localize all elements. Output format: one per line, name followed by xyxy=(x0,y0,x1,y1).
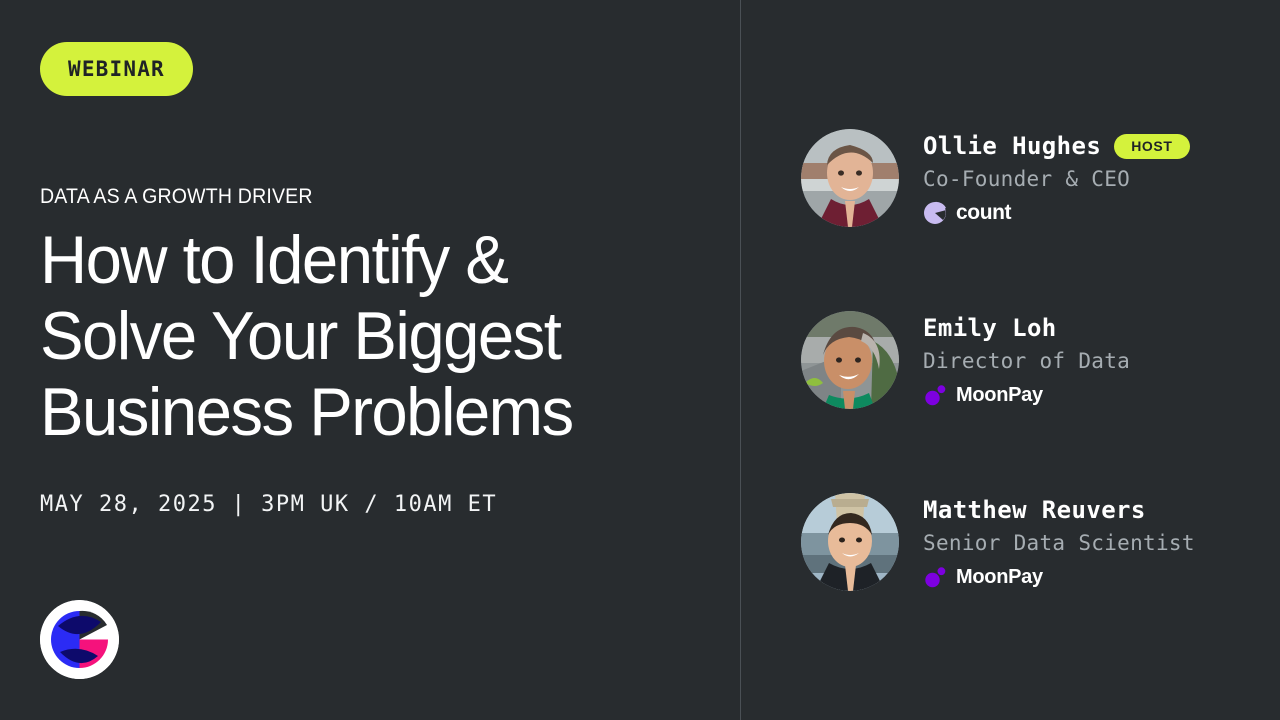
webinar-badge: WEBINAR xyxy=(40,42,193,96)
speaker-list: Ollie Hughes HOST Co-Founder & CEO count xyxy=(741,0,1280,720)
avatar-ollie-hughes xyxy=(801,129,899,227)
speaker-company: MoonPay xyxy=(923,564,1195,590)
company-name: count xyxy=(956,201,1011,225)
moonpay-logo xyxy=(923,384,947,406)
company-name: MoonPay xyxy=(956,384,1043,407)
webinar-promo-card: WEBINAR DATA AS A GROWTH DRIVER How to I… xyxy=(0,0,1280,720)
page-title: How to Identify & Solve Your Biggest Bus… xyxy=(40,222,674,450)
speaker-name-row: Emily Loh xyxy=(923,313,1130,343)
speaker-name: Emily Loh xyxy=(923,314,1057,342)
title-line-2: Solve Your Biggest xyxy=(40,298,674,374)
avatar-matthew-reuvers xyxy=(801,493,899,591)
left-content-panel: WEBINAR DATA AS A GROWTH DRIVER How to I… xyxy=(0,0,740,720)
moonpay-logo xyxy=(923,566,947,588)
speaker-name: Ollie Hughes xyxy=(923,132,1101,160)
speaker-role: Co-Founder & CEO xyxy=(923,167,1190,191)
speaker-card-emily-loh: Emily Loh Director of Data MoonPay xyxy=(801,311,1130,409)
speaker-company: MoonPay xyxy=(923,382,1130,408)
speaker-role: Senior Data Scientist xyxy=(923,531,1195,555)
count-logo-mark xyxy=(40,600,119,679)
speaker-company: count xyxy=(923,200,1190,226)
company-name: MoonPay xyxy=(956,566,1043,589)
speaker-name: Matthew Reuvers xyxy=(923,496,1146,524)
speaker-info: Ollie Hughes HOST Co-Founder & CEO count xyxy=(923,129,1190,226)
avatar-emily-loh xyxy=(801,311,899,409)
speaker-card-ollie-hughes: Ollie Hughes HOST Co-Founder & CEO count xyxy=(801,129,1190,227)
speaker-name-row: Matthew Reuvers xyxy=(923,495,1195,525)
speaker-info: Matthew Reuvers Senior Data Scientist Mo… xyxy=(923,493,1195,590)
speaker-name-row: Ollie Hughes HOST xyxy=(923,131,1190,161)
speaker-card-matthew-reuvers: Matthew Reuvers Senior Data Scientist Mo… xyxy=(801,493,1195,591)
count-logo xyxy=(923,201,947,225)
title-line-3: Business Problems xyxy=(40,374,674,450)
eyebrow-text: DATA AS A GROWTH DRIVER xyxy=(40,185,313,209)
speaker-role: Director of Data xyxy=(923,349,1130,373)
title-line-1: How to Identify & xyxy=(40,222,674,298)
speaker-info: Emily Loh Director of Data MoonPay xyxy=(923,311,1130,408)
event-datetime: MAY 28, 2025 | 3PM UK / 10AM ET xyxy=(40,492,497,517)
status-badge: HOST xyxy=(1114,134,1189,159)
